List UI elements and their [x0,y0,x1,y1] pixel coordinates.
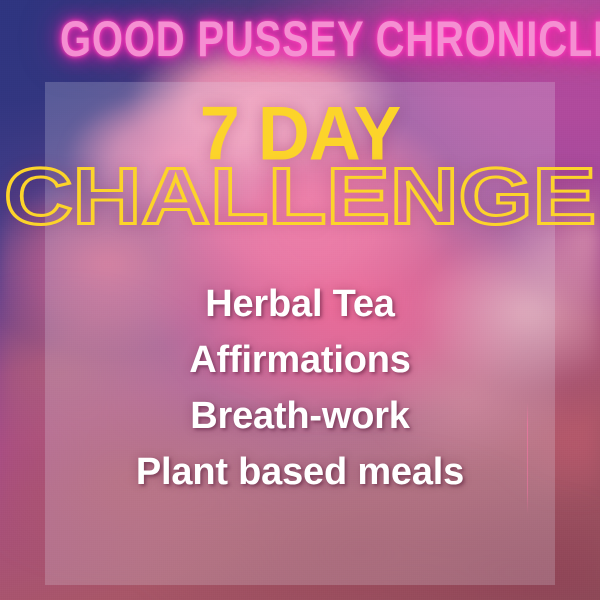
list-item: Plant based meals [0,444,600,500]
list-item: Affirmations [0,332,600,388]
headline-challenge: CHALLENGE [0,156,600,236]
challenge-items-list: Herbal Tea Affirmations Breath-work Plan… [0,276,600,500]
list-item: Herbal Tea [0,276,600,332]
brand-title: GOOD PUSSEY CHRONICLES [60,14,540,64]
poster-content: GOOD PUSSEY CHRONICLES 7 DAY CHALLENGE H… [0,0,600,600]
list-item: Breath-work [0,388,600,444]
poster-canvas: GOOD PUSSEY CHRONICLES 7 DAY CHALLENGE H… [0,0,600,600]
